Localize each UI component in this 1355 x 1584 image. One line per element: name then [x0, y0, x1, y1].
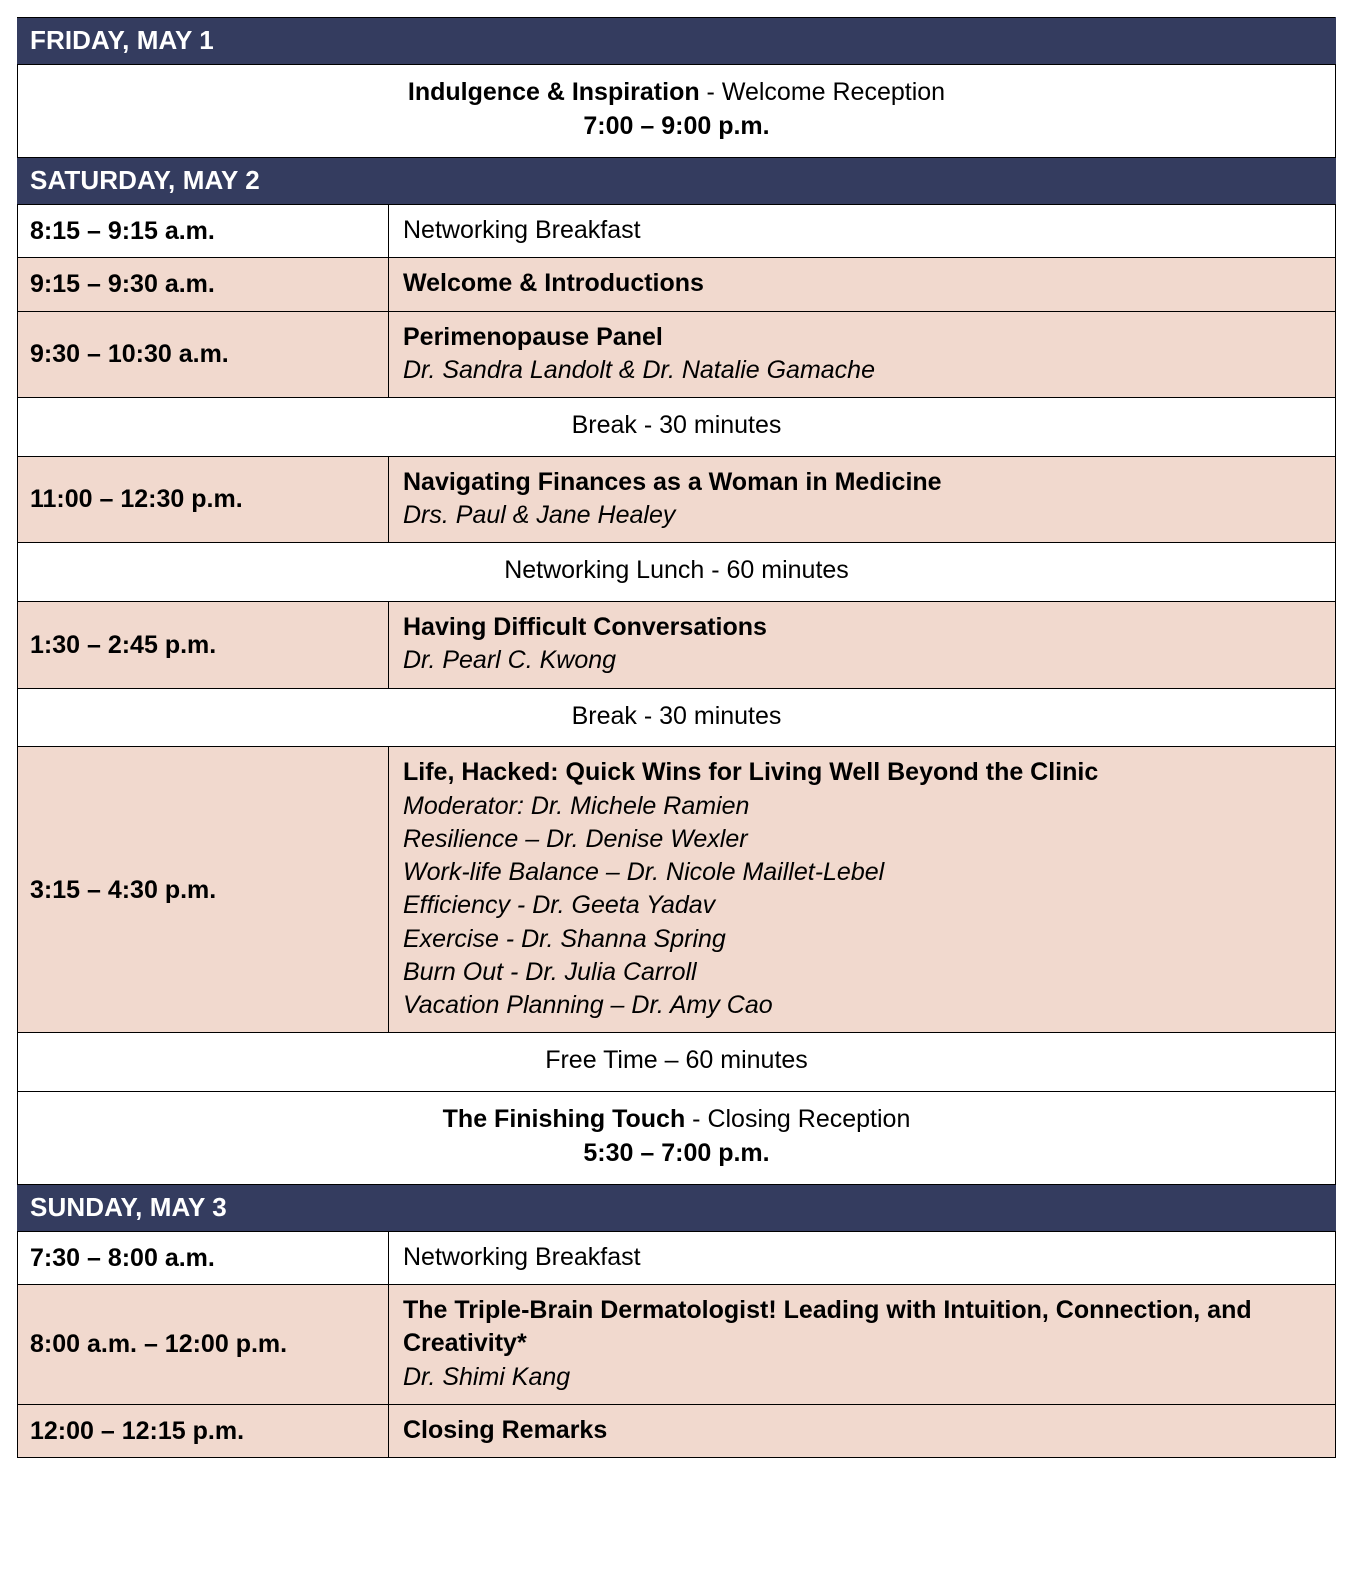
event-subtitle: Networking Lunch - 60 minutes: [504, 556, 849, 584]
session-title: Having Difficult Conversations: [403, 611, 1325, 644]
session-speaker: Work-life Balance – Dr. Nicole Maillet-L…: [403, 856, 1325, 889]
day-header-label: FRIDAY, MAY 1: [18, 18, 1336, 65]
full-row-line: 5:30 – 7:00 p.m.: [28, 1137, 1325, 1171]
full-width-row: Networking Lunch - 60 minutes: [18, 543, 1336, 602]
session-row: 8:00 a.m. – 12:00 p.m.The Triple-Brain D…: [18, 1285, 1336, 1405]
session-time: 1:30 – 2:45 p.m.: [18, 602, 389, 689]
session-row: 9:30 – 10:30 a.m.Perimenopause PanelDr. …: [18, 311, 1336, 398]
full-width-cell: The Finishing Touch - Closing Reception5…: [18, 1092, 1336, 1185]
full-row-line: Break - 30 minutes: [28, 700, 1325, 734]
session-speaker: Dr. Pearl C. Kwong: [403, 644, 1325, 677]
session-row: 12:00 – 12:15 p.m.Closing Remarks: [18, 1404, 1336, 1458]
full-width-cell: Free Time – 60 minutes: [18, 1033, 1336, 1092]
session-time: 7:30 – 8:00 a.m.: [18, 1231, 389, 1285]
event-subtitle: - Welcome Reception: [700, 78, 945, 106]
full-width-row: Break - 30 minutes: [18, 398, 1336, 457]
session-time: 9:30 – 10:30 a.m.: [18, 311, 389, 398]
full-width-cell: Break - 30 minutes: [18, 398, 1336, 457]
session-description: Life, Hacked: Quick Wins for Living Well…: [389, 747, 1336, 1033]
full-width-cell: Break - 30 minutes: [18, 688, 1336, 747]
event-name: 7:00 – 9:00 p.m.: [583, 112, 769, 140]
session-description: Networking Breakfast: [389, 1231, 1336, 1285]
session-speaker: Moderator: Dr. Michele Ramien: [403, 790, 1325, 823]
session-description: Having Difficult ConversationsDr. Pearl …: [389, 602, 1336, 689]
full-row-line: Networking Lunch - 60 minutes: [28, 554, 1325, 588]
day-header-label: SATURDAY, MAY 2: [18, 157, 1336, 204]
session-title: Navigating Finances as a Woman in Medici…: [403, 466, 1325, 499]
session-time: 3:15 – 4:30 p.m.: [18, 747, 389, 1033]
session-plain-title: Networking Breakfast: [403, 1241, 1325, 1274]
session-plain-title: Networking Breakfast: [403, 214, 1325, 247]
full-row-line: Indulgence & Inspiration - Welcome Recep…: [28, 76, 1325, 110]
session-time: 9:15 – 9:30 a.m.: [18, 258, 389, 312]
event-name: 5:30 – 7:00 p.m.: [583, 1139, 769, 1167]
event-name: The Finishing Touch: [443, 1105, 686, 1133]
session-description: Perimenopause PanelDr. Sandra Landolt & …: [389, 311, 1336, 398]
schedule-body: FRIDAY, MAY 1Indulgence & Inspiration - …: [18, 18, 1336, 1458]
session-title: Closing Remarks: [403, 1414, 1325, 1447]
session-title: Perimenopause Panel: [403, 321, 1325, 354]
session-time: 8:15 – 9:15 a.m.: [18, 204, 389, 258]
session-row: 7:30 – 8:00 a.m.Networking Breakfast: [18, 1231, 1336, 1285]
session-time: 8:00 a.m. – 12:00 p.m.: [18, 1285, 389, 1405]
session-speaker: Resilience – Dr. Denise Wexler: [403, 823, 1325, 856]
event-subtitle: - Closing Reception: [685, 1105, 910, 1133]
session-title: The Triple-Brain Dermatologist! Leading …: [403, 1294, 1325, 1361]
full-row-line: Free Time – 60 minutes: [28, 1044, 1325, 1078]
day-header-row: SATURDAY, MAY 2: [18, 157, 1336, 204]
session-description: Navigating Finances as a Woman in Medici…: [389, 456, 1336, 543]
session-speaker: Dr. Shimi Kang: [403, 1361, 1325, 1394]
event-subtitle: Break - 30 minutes: [572, 411, 782, 439]
conference-schedule-table: FRIDAY, MAY 1Indulgence & Inspiration - …: [17, 17, 1336, 1458]
full-width-row: The Finishing Touch - Closing Reception5…: [18, 1092, 1336, 1185]
day-header-row: FRIDAY, MAY 1: [18, 18, 1336, 65]
session-speaker: Burn Out - Dr. Julia Carroll: [403, 956, 1325, 989]
full-row-line: 7:00 – 9:00 p.m.: [28, 110, 1325, 144]
session-speaker: Exercise - Dr. Shanna Spring: [403, 923, 1325, 956]
session-description: The Triple-Brain Dermatologist! Leading …: [389, 1285, 1336, 1405]
session-row: 9:15 – 9:30 a.m.Welcome & Introductions: [18, 258, 1336, 312]
full-width-row: Free Time – 60 minutes: [18, 1033, 1336, 1092]
event-subtitle: Free Time – 60 minutes: [545, 1046, 808, 1074]
session-description: Closing Remarks: [389, 1404, 1336, 1458]
full-width-row: Indulgence & Inspiration - Welcome Recep…: [18, 65, 1336, 158]
session-title: Welcome & Introductions: [403, 267, 1325, 300]
session-row: 3:15 – 4:30 p.m.Life, Hacked: Quick Wins…: [18, 747, 1336, 1033]
session-row: 11:00 – 12:30 p.m.Navigating Finances as…: [18, 456, 1336, 543]
full-width-cell: Networking Lunch - 60 minutes: [18, 543, 1336, 602]
full-width-row: Break - 30 minutes: [18, 688, 1336, 747]
session-title: Life, Hacked: Quick Wins for Living Well…: [403, 756, 1325, 789]
session-row: 8:15 – 9:15 a.m.Networking Breakfast: [18, 204, 1336, 258]
session-description: Networking Breakfast: [389, 204, 1336, 258]
session-speaker: Drs. Paul & Jane Healey: [403, 499, 1325, 532]
session-time: 12:00 – 12:15 p.m.: [18, 1404, 389, 1458]
session-speaker: Vacation Planning – Dr. Amy Cao: [403, 989, 1325, 1022]
day-header-row: SUNDAY, MAY 3: [18, 1184, 1336, 1231]
event-name: Indulgence & Inspiration: [408, 78, 700, 106]
session-time: 11:00 – 12:30 p.m.: [18, 456, 389, 543]
full-row-line: Break - 30 minutes: [28, 409, 1325, 443]
session-row: 1:30 – 2:45 p.m.Having Difficult Convers…: [18, 602, 1336, 689]
session-speaker: Efficiency - Dr. Geeta Yadav: [403, 889, 1325, 922]
session-description: Welcome & Introductions: [389, 258, 1336, 312]
schedule-page: FRIDAY, MAY 1Indulgence & Inspiration - …: [0, 0, 1355, 1584]
full-row-line: The Finishing Touch - Closing Reception: [28, 1103, 1325, 1137]
day-header-label: SUNDAY, MAY 3: [18, 1184, 1336, 1231]
full-width-cell: Indulgence & Inspiration - Welcome Recep…: [18, 65, 1336, 158]
event-subtitle: Break - 30 minutes: [572, 702, 782, 730]
session-speaker: Dr. Sandra Landolt & Dr. Natalie Gamache: [403, 354, 1325, 387]
